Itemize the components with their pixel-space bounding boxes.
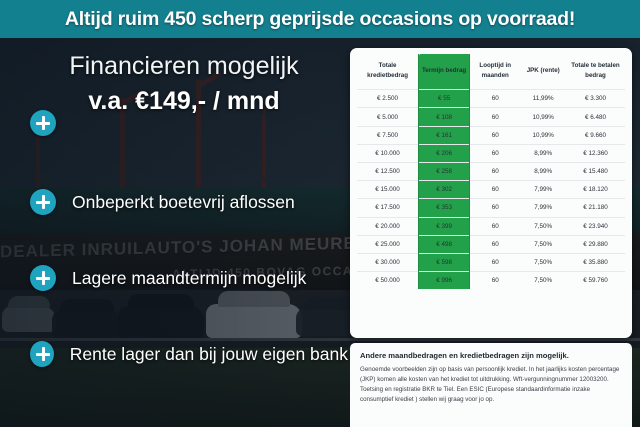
cell-totaal: € 35.880 bbox=[566, 253, 625, 271]
cell-krediet: € 20.000 bbox=[357, 217, 419, 235]
cell-krediet: € 15.000 bbox=[357, 181, 419, 199]
column-header-looptijd: Looptijd in maanden bbox=[470, 54, 521, 90]
cell-looptijd: 60 bbox=[470, 199, 521, 217]
feature-item-0: Onbeperkt boetevrij aflossen bbox=[30, 188, 348, 216]
cell-termijn: € 258 bbox=[419, 162, 470, 180]
table-row: € 25.000 € 498 60 7,50% € 29.880 bbox=[357, 235, 625, 253]
plus-badge-icon bbox=[30, 341, 54, 367]
cell-jkp: 8,99% bbox=[520, 162, 566, 180]
cell-totaal: € 18.120 bbox=[566, 181, 625, 199]
feature-label: Lagere maandtermijn mogelijk bbox=[72, 268, 306, 289]
rate-table-card: Totale kredietbedrag Termijn bedrag Loop… bbox=[350, 48, 632, 338]
headline-primary: Financieren mogelijk bbox=[26, 52, 342, 81]
cell-totaal: € 59.760 bbox=[566, 272, 625, 290]
table-row: € 15.000 € 302 60 7,99% € 18.120 bbox=[357, 181, 625, 199]
cell-termijn: € 996 bbox=[419, 272, 470, 290]
table-row: € 12.500 € 258 60 8,99% € 15.480 bbox=[357, 162, 625, 180]
column-header-krediet: Totale kredietbedrag bbox=[357, 54, 419, 90]
cell-jkp: 7,50% bbox=[520, 272, 566, 290]
headline-block: Financieren mogelijk v.a. €149,- / mnd bbox=[26, 52, 342, 116]
disclaimer-body: Genoemde voorbeelden zijn op basis van p… bbox=[360, 365, 622, 405]
cell-looptijd: 60 bbox=[470, 181, 521, 199]
cell-termijn: € 399 bbox=[419, 217, 470, 235]
top-banner: Altijd ruim 450 scherp geprijsde occasio… bbox=[0, 0, 640, 38]
cell-totaal: € 23.940 bbox=[566, 217, 625, 235]
column-header-termijn: Termijn bedrag bbox=[419, 54, 470, 90]
cell-looptijd: 60 bbox=[470, 162, 521, 180]
cell-krediet: € 30.000 bbox=[357, 253, 419, 271]
table-header-row: Totale kredietbedrag Termijn bedrag Loop… bbox=[357, 54, 625, 90]
cell-krediet: € 2.500 bbox=[357, 90, 419, 108]
feature-label: Onbeperkt boetevrij aflossen bbox=[72, 192, 295, 213]
cell-termijn: € 161 bbox=[419, 126, 470, 144]
cell-looptijd: 60 bbox=[470, 144, 521, 162]
cell-krediet: € 10.000 bbox=[357, 144, 419, 162]
cell-looptijd: 60 bbox=[470, 126, 521, 144]
cell-jkp: 10,99% bbox=[520, 108, 566, 126]
cell-termijn: € 598 bbox=[419, 253, 470, 271]
banner-headline: Altijd ruim 450 scherp geprijsde occasio… bbox=[65, 8, 575, 31]
cell-termijn: € 302 bbox=[419, 181, 470, 199]
feature-label: Rente lager dan bij jouw eigen bank bbox=[70, 344, 348, 365]
dealership-photo: DEALER INRUILAUTO'S JOHAN MEURE ALTIJD 4… bbox=[0, 38, 640, 427]
cell-totaal: € 15.480 bbox=[566, 162, 625, 180]
cell-totaal: € 12.360 bbox=[566, 144, 625, 162]
cell-krediet: € 7.500 bbox=[357, 126, 419, 144]
cell-krediet: € 50.000 bbox=[357, 272, 419, 290]
table-row: € 10.000 € 206 60 8,99% € 12.360 bbox=[357, 144, 625, 162]
feature-list: Financieren mogelijk v.a. €149,- / mnd O… bbox=[0, 38, 348, 427]
table-row: € 20.000 € 399 60 7,50% € 23.940 bbox=[357, 217, 625, 235]
cell-termijn: € 108 bbox=[419, 108, 470, 126]
cell-krediet: € 5.000 bbox=[357, 108, 419, 126]
column-header-totaal: Totale te betalen bedrag bbox=[566, 54, 625, 90]
rate-table: Totale kredietbedrag Termijn bedrag Loop… bbox=[357, 54, 625, 289]
cell-jkp: 10,99% bbox=[520, 126, 566, 144]
cell-termijn: € 55 bbox=[419, 90, 470, 108]
disclaimer-title: Andere maandbedragen en kredietbedragen … bbox=[360, 351, 622, 360]
cell-krediet: € 17.500 bbox=[357, 199, 419, 217]
cell-looptijd: 60 bbox=[470, 272, 521, 290]
cell-totaal: € 9.660 bbox=[566, 126, 625, 144]
cell-looptijd: 60 bbox=[470, 108, 521, 126]
cell-looptijd: 60 bbox=[470, 217, 521, 235]
table-row: € 7.500 € 161 60 10,99% € 9.660 bbox=[357, 126, 625, 144]
cell-totaal: € 29.880 bbox=[566, 235, 625, 253]
column-header-jkp: JPK (rente) bbox=[520, 54, 566, 90]
cell-totaal: € 3.300 bbox=[566, 90, 625, 108]
feature-item-2: Rente lager dan bij jouw eigen bank bbox=[30, 340, 348, 368]
cell-looptijd: 60 bbox=[470, 253, 521, 271]
table-row: € 5.000 € 108 60 10,99% € 6.480 bbox=[357, 108, 625, 126]
table-row: € 30.000 € 598 60 7,50% € 35.880 bbox=[357, 253, 625, 271]
cell-krediet: € 12.500 bbox=[357, 162, 419, 180]
cell-termijn: € 206 bbox=[419, 144, 470, 162]
cell-termijn: € 353 bbox=[419, 199, 470, 217]
feature-item-1: Lagere maandtermijn mogelijk bbox=[30, 264, 348, 292]
cell-looptijd: 60 bbox=[470, 235, 521, 253]
legal-warning-bar: Let op! Geld lenen kost geld bbox=[350, 423, 632, 427]
cell-looptijd: 60 bbox=[470, 90, 521, 108]
plus-badge-icon bbox=[30, 265, 56, 291]
plus-badge-icon bbox=[30, 189, 56, 215]
disclaimer-panel: Andere maandbedragen en kredietbedragen … bbox=[350, 343, 632, 423]
cell-jkp: 7,50% bbox=[520, 217, 566, 235]
cell-jkp: 7,50% bbox=[520, 235, 566, 253]
cell-totaal: € 6.480 bbox=[566, 108, 625, 126]
table-row: € 2.500 € 55 60 11,99% € 3.300 bbox=[357, 90, 625, 108]
cell-krediet: € 25.000 bbox=[357, 235, 419, 253]
cell-totaal: € 21.180 bbox=[566, 199, 625, 217]
cell-jkp: 11,99% bbox=[520, 90, 566, 108]
table-row: € 50.000 € 996 60 7,50% € 59.760 bbox=[357, 272, 625, 290]
headline-secondary: v.a. €149,- / mnd bbox=[26, 87, 342, 116]
cell-jkp: 8,99% bbox=[520, 144, 566, 162]
promo-banner-image: Altijd ruim 450 scherp geprijsde occasio… bbox=[0, 0, 640, 427]
table-row: € 17.500 € 353 60 7,99% € 21.180 bbox=[357, 199, 625, 217]
cell-jkp: 7,99% bbox=[520, 181, 566, 199]
cell-jkp: 7,50% bbox=[520, 253, 566, 271]
rate-table-body: € 2.500 € 55 60 11,99% € 3.300 € 5.000 €… bbox=[357, 90, 625, 290]
cell-termijn: € 498 bbox=[419, 235, 470, 253]
cell-jkp: 7,99% bbox=[520, 199, 566, 217]
